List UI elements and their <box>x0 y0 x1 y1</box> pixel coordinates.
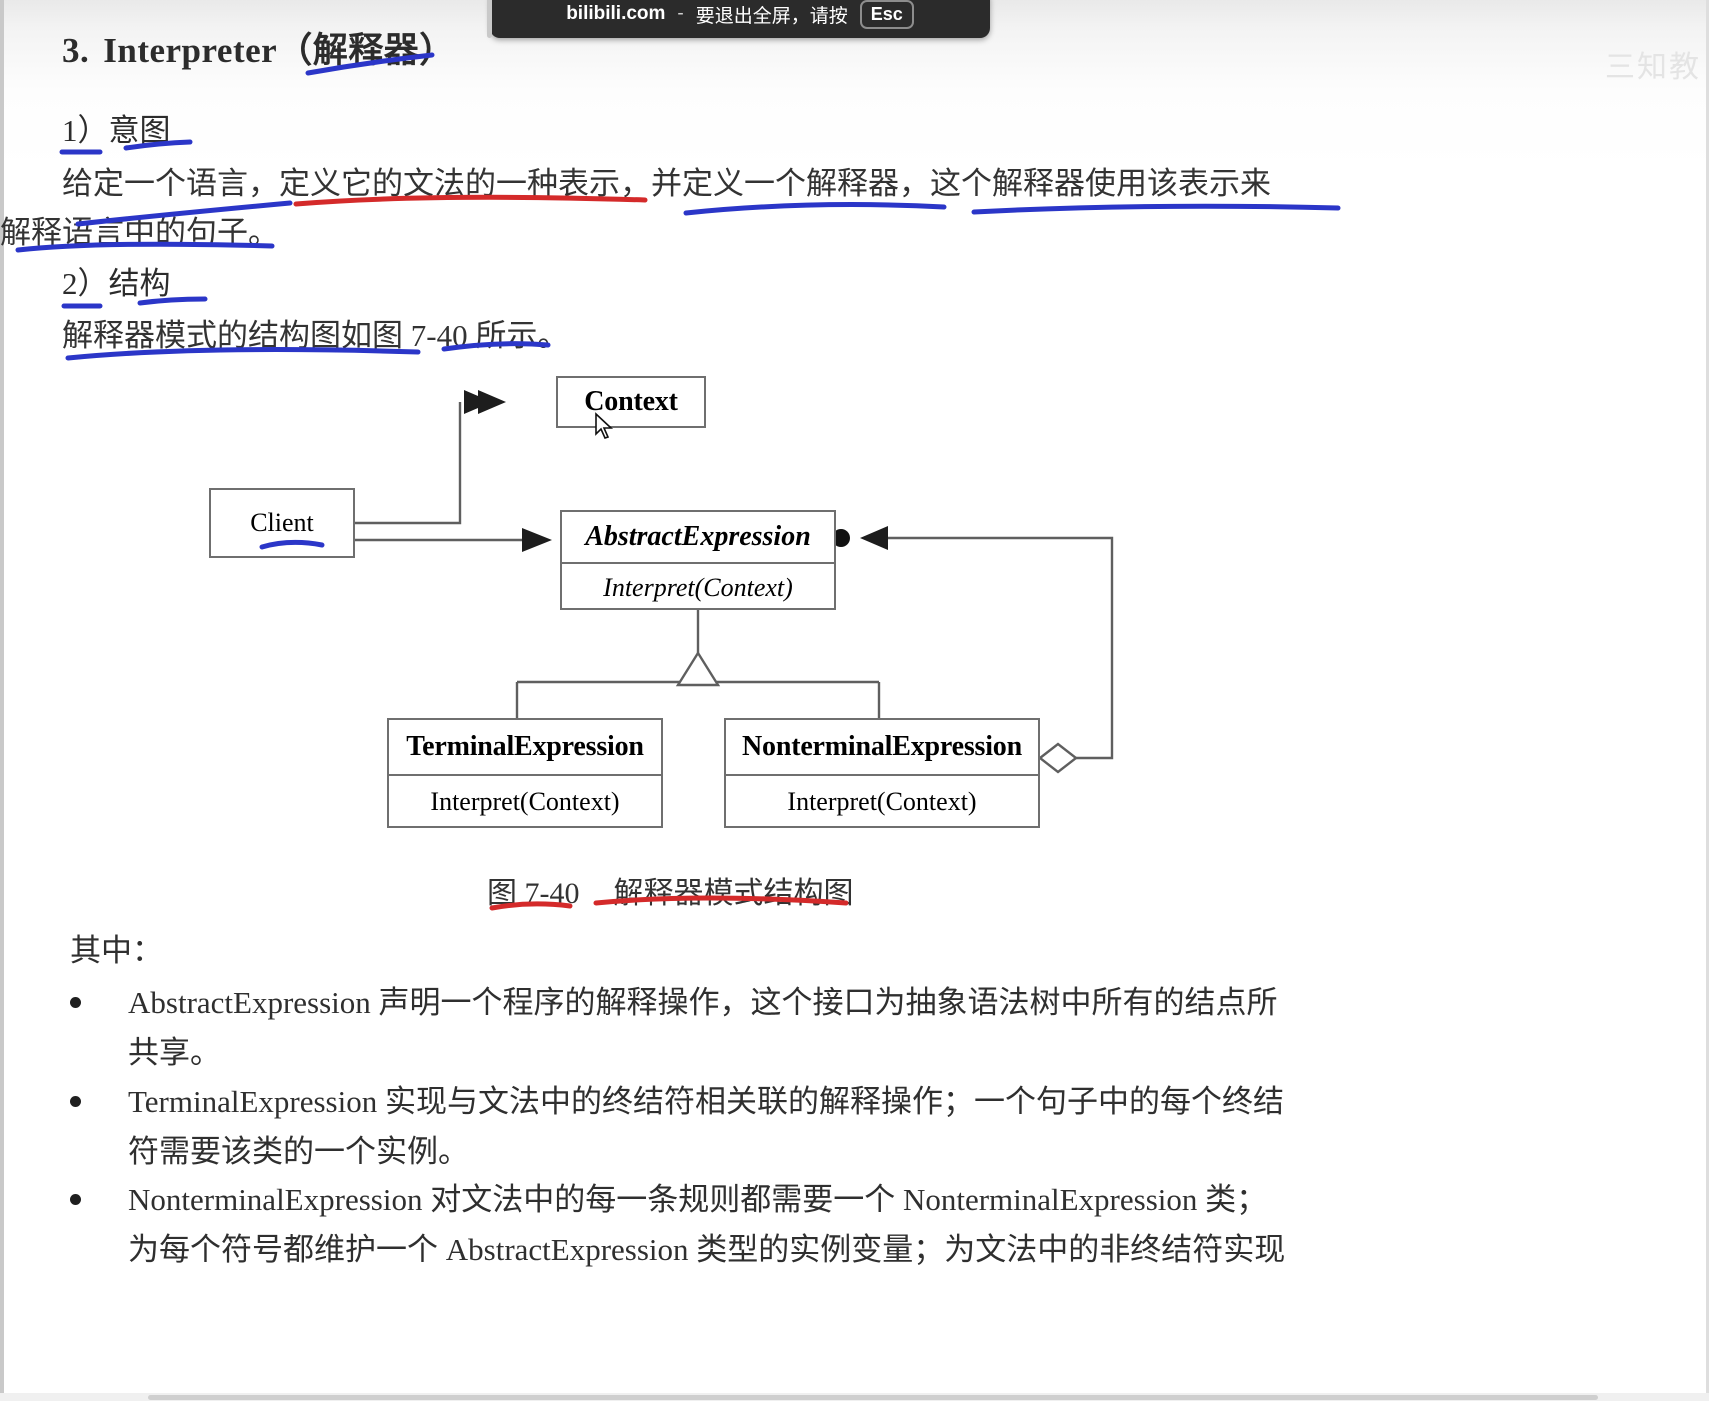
section-1-body-line-1: 给定一个语言，定义它的文法的一种表示，并定义一个解释器，这个解释器使用该表示来 <box>62 158 1271 203</box>
section-2-heading: 2）结构 <box>62 258 171 303</box>
bullet-dot-icon <box>70 1096 81 1107</box>
page-title: 3.Interpreter（解释器） <box>62 22 455 73</box>
mouse-cursor-icon <box>594 412 616 442</box>
toast-dash: - <box>677 3 683 25</box>
uml-node-nonterminal-expression-label: NonterminalExpression <box>742 731 1022 763</box>
figure-caption-number: 图 7-40 <box>487 877 580 910</box>
generalization-triangle <box>678 653 718 685</box>
uml-node-abstract-expression-method: Interpret(Context) <box>603 573 793 603</box>
section-2-body: 解释器模式的结构图如图 7-40 所示。 <box>62 310 568 355</box>
list-item-line-2: 共享。 <box>128 1027 221 1072</box>
uml-node-terminal-expression-label: TerminalExpression <box>406 731 644 763</box>
uml-node-terminal-expression-method: Interpret(Context) <box>430 787 619 817</box>
uml-node-nonterminal-expression-method: Interpret(Context) <box>787 787 976 817</box>
list-item-line-1: AbstractExpression 声明一个程序的解释操作，这个接口为抽象语法… <box>128 977 1278 1022</box>
bullet-dot-icon <box>70 997 81 1008</box>
uml-node-abstract-expression[interactable]: AbstractExpression Interpret(Context) <box>560 510 836 610</box>
figure-caption-title: 解释器模式结构图 <box>614 877 854 910</box>
list-item-line-1: NonterminalExpression 对文法中的每一条规则都需要一个 No… <box>128 1174 1267 1219</box>
heading-title-cn: （解释器） <box>277 31 455 70</box>
bullet-dot-icon <box>70 1194 81 1205</box>
uml-node-context[interactable]: Context <box>556 376 706 428</box>
heading-title-en: Interpreter <box>103 31 277 70</box>
list-item-line-2: 为每个符号都维护一个 AbstractExpression 类型的实例变量；为文… <box>128 1224 1285 1269</box>
toast-left-edge <box>487 0 492 38</box>
section-1-heading: 1）意图 <box>62 105 171 150</box>
uml-node-client[interactable]: Client <box>209 488 355 558</box>
uml-node-nonterminal-expression[interactable]: NonterminalExpression Interpret(Context) <box>724 718 1040 828</box>
uml-node-terminal-expression[interactable]: TerminalExpression Interpret(Context) <box>387 718 663 828</box>
heading-number: 3. <box>62 31 89 70</box>
figure-caption: 图 7-40解释器模式结构图 <box>487 868 854 912</box>
uml-node-abstract-expression-label: AbstractExpression <box>585 521 811 553</box>
fullscreen-notice-toast: bilibili.com - 要退出全屏，请按 Esc <box>490 0 990 38</box>
aggregation-diamond <box>1040 744 1076 772</box>
notes-intro: 其中： <box>70 925 163 970</box>
context-arrowhead <box>448 382 528 422</box>
toast-message: 要退出全屏，请按 <box>696 1 848 28</box>
uml-node-client-label: Client <box>250 508 314 538</box>
section-1-body-line-2: 解释语言中的句子。 <box>0 207 279 252</box>
uml-class-diagram: Context Client AbstractExpression Interp… <box>0 360 1709 860</box>
esc-key-badge: Esc <box>860 0 914 29</box>
toast-site-label: bilibili.com <box>566 3 665 25</box>
list-item-line-1: TerminalExpression 实现与文法中的终结符相关联的解释操作；一个… <box>128 1076 1284 1121</box>
list-item-line-2: 符需要该类的一个实例。 <box>128 1126 469 1171</box>
player-progress-bar[interactable] <box>148 1395 1598 1400</box>
